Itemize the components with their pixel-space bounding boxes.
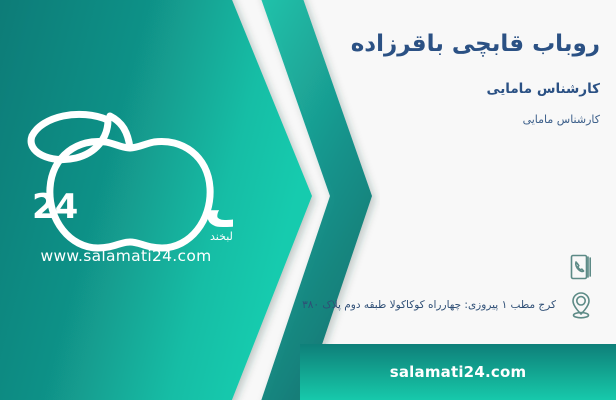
- job-title-secondary: کارشناس مامایی: [240, 113, 600, 127]
- phone-book-icon: [562, 248, 600, 286]
- business-card: سلامتی 24 به راحتی یک لبخند www.salamati…: [0, 0, 616, 400]
- logo-wordmark: سلامتی: [204, 169, 233, 234]
- page-title: روباب قابچی باقرزاده: [240, 30, 600, 59]
- contact-row-phone[interactable]: [200, 248, 600, 286]
- contact-row-address[interactable]: کرج مطب ۱ پیروزی: چهارراه کوکاکولا طبقه …: [200, 286, 600, 324]
- contact-block: کرج مطب ۱ پیروزی: چهارراه کوکاکولا طبقه …: [200, 248, 600, 324]
- site-url[interactable]: salamati24.com: [390, 363, 527, 381]
- logo-url: www.salamati24.com: [40, 247, 211, 265]
- location-pin-icon: [562, 286, 600, 324]
- logo: سلامتی 24 به راحتی یک لبخند www.salamati…: [18, 108, 233, 268]
- logo-tagline: به راحتی یک لبخند: [210, 230, 233, 243]
- footer-bar: salamati24.com: [300, 344, 616, 400]
- contact-address-text: کرج مطب ۱ پیروزی: چهارراه کوکاکولا طبقه …: [296, 298, 562, 313]
- job-title-primary: کارشناس مامایی: [240, 81, 600, 99]
- logo-number: 24: [32, 187, 78, 227]
- profile-text-column: روباب قابچی باقرزاده کارشناس مامایی کارش…: [240, 30, 600, 128]
